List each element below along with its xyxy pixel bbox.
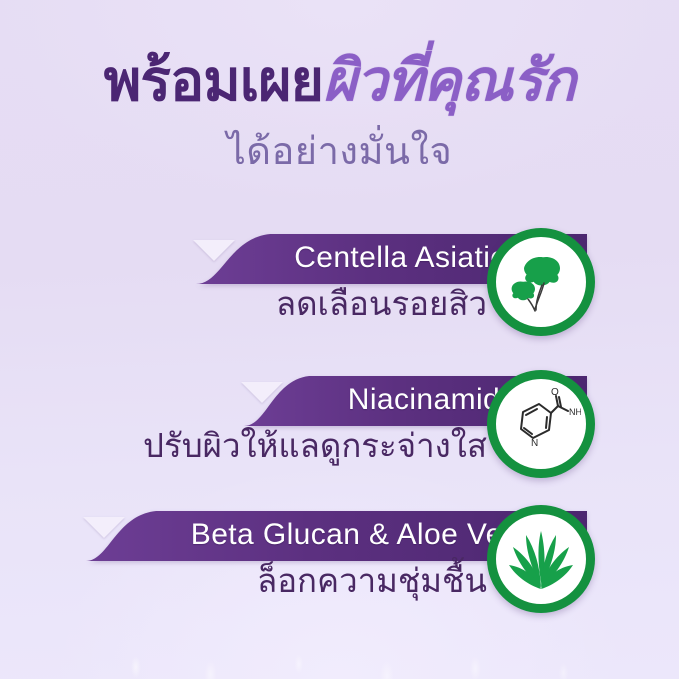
molecule-label-nitrogen: N [531,438,538,449]
ingredient-row-niacinamide: Niacinamide ปรับผิวให้แลดูกระจ่างใส N [0,374,679,494]
ingredient-poster: พร้อมเผยผิวที่คุณรัก ได้อย่างมั่นใจ Cent… [0,0,679,679]
ingredient-subtitle: ล็อกความชุ่มชื้น [257,562,487,600]
centella-leaf-icon [502,243,580,321]
ingredient-badge-aloe [487,505,595,613]
ingredient-badge-centella [487,228,595,336]
banner-arrow-icon [193,240,235,261]
headline-strong-text: พร้อมเผย [104,48,323,114]
headline-script-text: ผิวที่คุณรัก [323,48,575,114]
ingredient-subtitle: ลดเลือนรอยสิว [276,285,487,323]
ingredient-badge-niacinamide: N O NH₂ [487,370,595,478]
aloe-vera-icon [501,519,581,599]
banner-arrow-icon [241,382,283,403]
molecule-label-amine: NH₂ [569,407,581,417]
headline-block: พร้อมเผยผิวที่คุณรัก ได้อย่างมั่นใจ [0,52,679,181]
molecule-label-oxygen: O [551,387,559,398]
banner-arrow-icon [83,517,125,538]
ingredient-subtitle: ปรับผิวให้แลดูกระจ่างใส [143,427,487,465]
niacinamide-molecule-icon: N O NH₂ [501,384,581,464]
ingredient-row-centella: Centella Asiatica ลดเลือนรอยสิว [0,232,679,352]
headline-line-2: ได้อย่างมั่นใจ [0,120,679,181]
ingredient-row-aloe: Beta Glucan & Aloe Vera ล็อกความชุ่มชื้น [0,509,679,629]
headline-line-1: พร้อมเผยผิวที่คุณรัก [0,52,679,112]
